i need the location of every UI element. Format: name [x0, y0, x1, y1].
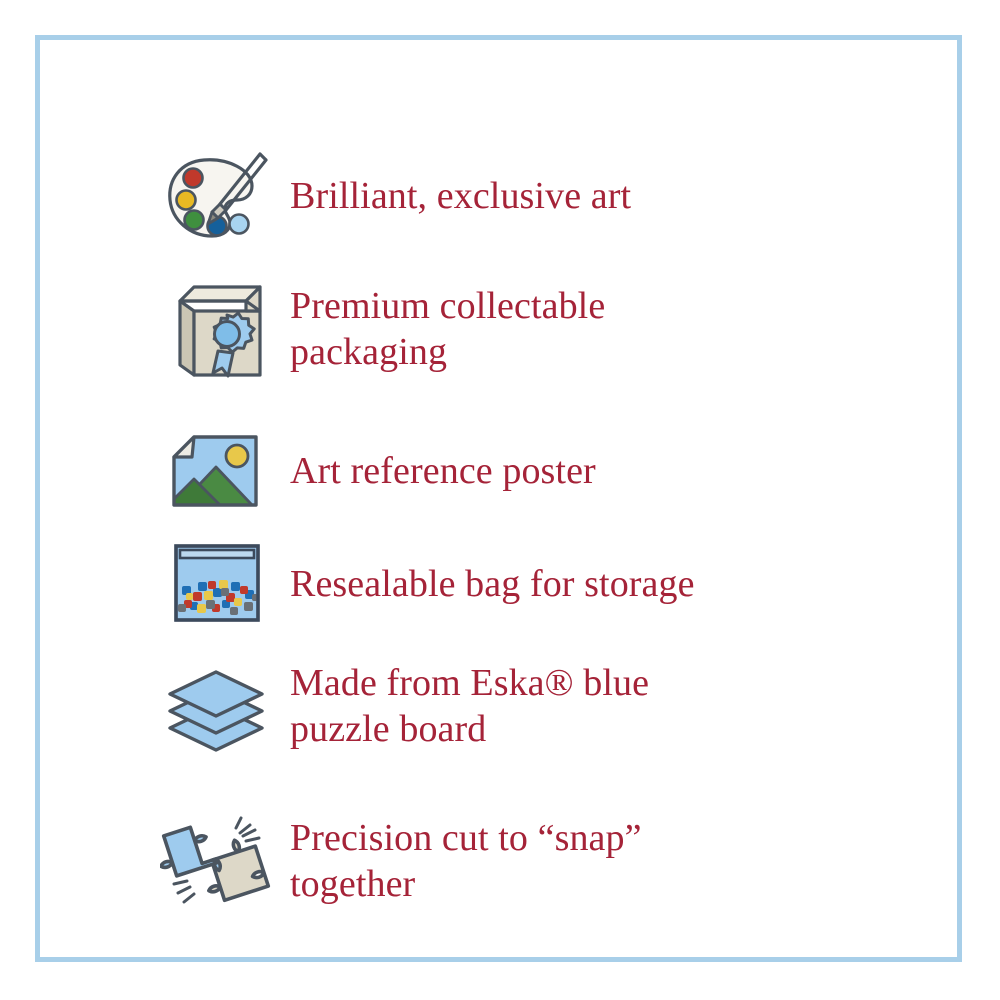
feature-label: Precision cut to “snap” together	[272, 815, 642, 908]
snap-puzzle-pieces-icon	[160, 805, 272, 917]
art-poster-icon	[160, 415, 272, 527]
feature-row: Premium collectable packaging	[160, 273, 605, 385]
feature-label: Premium collectable packaging	[272, 283, 605, 376]
resealable-bag-icon	[160, 528, 272, 640]
feature-row: Made from Eska® blue puzzle board	[160, 650, 649, 762]
feature-label: Art reference poster	[272, 448, 596, 494]
puzzle-board-stack-icon	[160, 650, 272, 762]
feature-label: Brilliant, exclusive art	[272, 173, 631, 219]
award-box-icon	[160, 273, 272, 385]
feature-label: Made from Eska® blue puzzle board	[272, 660, 649, 753]
paint-palette-icon	[160, 140, 272, 252]
feature-panel: Brilliant, exclusive art	[35, 35, 962, 962]
feature-row: Art reference poster	[160, 415, 596, 527]
feature-row: Precision cut to “snap” together	[160, 805, 642, 917]
feature-list: Brilliant, exclusive art	[40, 40, 957, 957]
feature-label: Resealable bag for storage	[272, 561, 695, 607]
feature-row: Brilliant, exclusive art	[160, 140, 631, 252]
feature-row: Resealable bag for storage	[160, 528, 695, 640]
